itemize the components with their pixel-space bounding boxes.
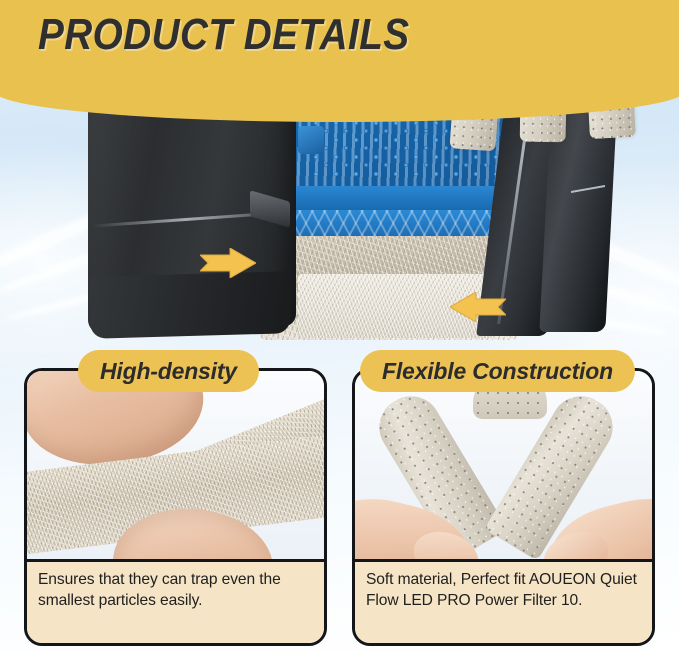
feature-caption-panel: Soft material, Perfect fit AOUEON Quiet … xyxy=(355,559,652,643)
feature-badge-label: Flexible Construction xyxy=(382,358,613,385)
filter-housing-base xyxy=(90,271,290,339)
header-banner: PRODUCT DETAILS xyxy=(0,0,679,122)
feature-card-flexible-construction: Soft material, Perfect fit AOUEON Quiet … xyxy=(352,368,655,646)
feature-caption-text: Soft material, Perfect fit AOUEON Quiet … xyxy=(366,569,641,611)
hands-bending-filter-cartridge-photo xyxy=(355,371,652,569)
feature-badge-label: High-density xyxy=(100,358,237,385)
feature-badge-high-density: High-density xyxy=(78,350,259,392)
fingers-pinching-dense-filter-pad-photo xyxy=(27,371,324,569)
blue-cage-tab xyxy=(298,126,324,154)
feature-badge-flexible-construction: Flexible Construction xyxy=(360,350,635,392)
feature-caption-text: Ensures that they can trap even the smal… xyxy=(38,569,313,611)
arrow-left-icon xyxy=(450,292,506,322)
page-title: PRODUCT DETAILS xyxy=(38,10,410,60)
feature-card-high-density: Ensures that they can trap even the smal… xyxy=(24,368,327,646)
product-details-infographic: PRODUCT DETAILS Ensures that they can tr… xyxy=(0,0,679,652)
arrow-right-icon xyxy=(200,248,256,278)
feature-caption-panel: Ensures that they can trap even the smal… xyxy=(27,559,324,643)
